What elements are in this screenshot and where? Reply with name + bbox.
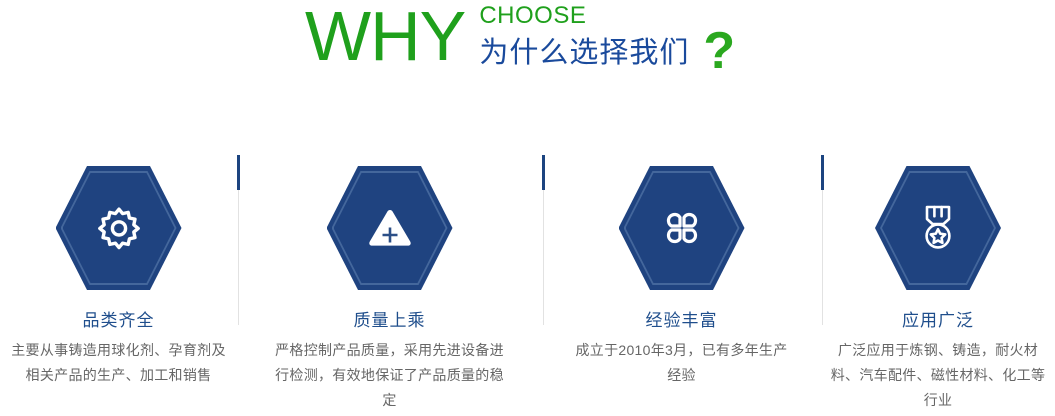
divider-thin-line <box>543 190 544 325</box>
divider-thin-line <box>238 190 239 325</box>
medal-icon <box>875 166 1001 290</box>
gear-icon <box>56 166 182 290</box>
feature-card-2: 质量上乘 严格控制产品质量，采用先进设备进行检测，有效地保证了产品质量的稳定 <box>237 140 542 416</box>
triangle-plus-icon <box>327 166 453 290</box>
feature-title: 应用广泛 <box>902 310 974 332</box>
hexagon-badge-2 <box>327 166 453 290</box>
divider-accent-bar <box>237 155 240 190</box>
feature-card-3: 经验丰富 成立于2010年3月，已有多年生产经验 <box>542 140 821 416</box>
heading-choose: CHOOSE <box>479 2 735 29</box>
heading-sub-group: CHOOSE 为什么选择我们 ? <box>479 0 735 75</box>
question-mark-glyph: ? <box>703 29 735 73</box>
feature-title: 经验丰富 <box>646 310 718 332</box>
column-divider-3 <box>821 155 824 325</box>
heading-cn-title: 为什么选择我们 <box>479 36 689 70</box>
feature-title: 质量上乘 <box>354 310 426 332</box>
feature-title: 品类齐全 <box>83 310 155 332</box>
feature-card-4: 应用广泛 广泛应用于炼钢、铸造，耐火材料、汽车配件、磁性材料、化工等行业 <box>821 140 1055 416</box>
divider-accent-bar <box>821 155 824 190</box>
feature-columns: 品类齐全 主要从事铸造用球化剂、孕育剂及相关产品的生产、加工和销售 质量上乘 严… <box>0 140 1055 416</box>
column-divider-1 <box>237 155 240 325</box>
feature-description: 主要从事铸造用球化剂、孕育剂及相关产品的生产、加工和销售 <box>11 338 226 388</box>
clover-icon <box>619 166 745 290</box>
divider-accent-bar <box>542 155 545 190</box>
header-title-group: WHY CHOOSE 为什么选择我们 ? <box>305 0 735 75</box>
section-header: WHY CHOOSE 为什么选择我们 ? <box>0 0 1055 100</box>
heading-why: WHY <box>305 0 465 72</box>
feature-description: 严格控制产品质量，采用先进设备进行检测，有效地保证了产品质量的稳定 <box>272 338 507 413</box>
hexagon-badge-3 <box>619 166 745 290</box>
feature-card-1: 品类齐全 主要从事铸造用球化剂、孕育剂及相关产品的生产、加工和销售 <box>0 140 237 416</box>
hexagon-badge-4 <box>875 166 1001 290</box>
feature-description: 成立于2010年3月，已有多年生产经验 <box>569 338 794 388</box>
column-divider-2 <box>542 155 545 325</box>
heading-cn-row: 为什么选择我们 ? <box>479 31 735 75</box>
hexagon-badge-1 <box>56 166 182 290</box>
divider-thin-line <box>822 190 823 325</box>
feature-description: 广泛应用于炼钢、铸造，耐火材料、汽车配件、磁性材料、化工等行业 <box>831 338 1046 413</box>
